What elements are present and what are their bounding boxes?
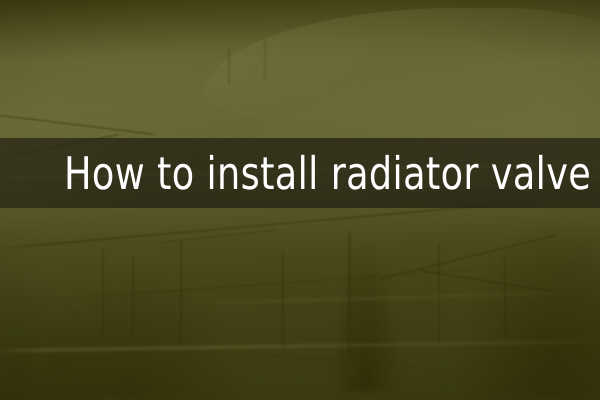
page-title: How to install radiator valve — [64, 151, 591, 196]
title-banner: How to install radiator valve — [0, 138, 600, 208]
thumbnail-image: How to install radiator valve — [0, 0, 600, 400]
